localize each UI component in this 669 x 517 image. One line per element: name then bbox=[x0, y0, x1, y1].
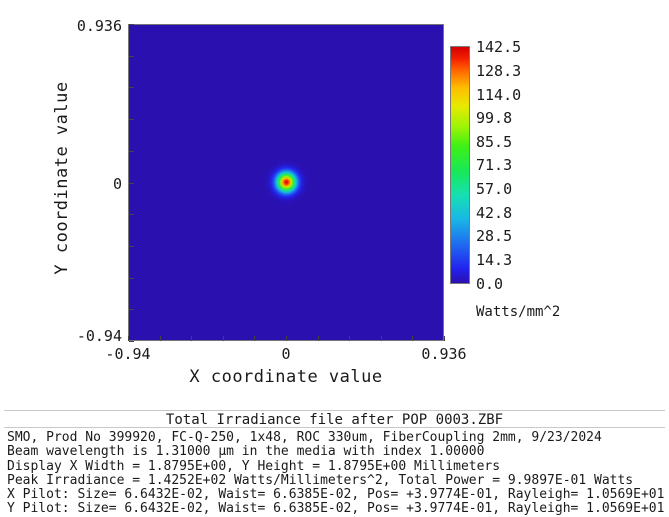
x-axis-tick bbox=[254, 336, 255, 341]
info-line-display: Display X Width = 1.8795E+00, Y Height =… bbox=[7, 460, 667, 474]
x-axis-title: X coordinate value bbox=[128, 367, 444, 387]
colorbar-label-9: 128.3 bbox=[476, 64, 521, 79]
y-axis-tick bbox=[129, 119, 134, 120]
colorbar-label-4: 57.0 bbox=[476, 182, 512, 197]
colorbar-label-10: 142.5 bbox=[476, 40, 521, 55]
x-tick-label-max: 0.936 bbox=[384, 345, 504, 363]
divider-middle bbox=[4, 427, 665, 428]
y-tick-label-min: -0.94 bbox=[0, 327, 122, 345]
colorbar-label-7: 99.8 bbox=[476, 111, 512, 126]
colorbar-gradient bbox=[450, 46, 470, 284]
info-line-x-pilot: X Pilot: Size= 6.6432E-02, Waist= 6.6385… bbox=[7, 488, 667, 502]
colorbar-label-6: 85.5 bbox=[476, 135, 512, 150]
y-tick-label-max: 0.936 bbox=[0, 17, 122, 35]
y-axis-tick bbox=[129, 24, 134, 25]
info-line-y-pilot: Y Pilot: Size= 6.6432E-02, Waist= 6.6385… bbox=[7, 502, 667, 516]
y-axis-tick bbox=[129, 278, 134, 279]
colorbar-label-3: 42.8 bbox=[476, 206, 512, 221]
x-axis-tick bbox=[191, 336, 192, 341]
irradiance-plot: Y coordinate value X coordinate value 0.… bbox=[0, 0, 669, 405]
y-axis-tick bbox=[129, 246, 134, 247]
x-axis-tick bbox=[318, 336, 319, 341]
colorbar-label-2: 28.5 bbox=[476, 229, 512, 244]
x-axis-tick bbox=[160, 336, 161, 341]
colorbar-label-0: 0.0 bbox=[476, 277, 503, 292]
y-axis-tick bbox=[129, 214, 134, 215]
x-axis-tick bbox=[349, 336, 350, 341]
colorbar-label-5: 71.3 bbox=[476, 158, 512, 173]
x-axis-tick bbox=[444, 336, 445, 341]
x-axis-tick bbox=[412, 336, 413, 341]
info-line-wavelength: Beam wavelength is 1.31000 µm in the med… bbox=[7, 445, 667, 459]
y-axis-tick bbox=[129, 341, 134, 342]
info-line-system: SMO, Prod No 399920, FC-Q-250, 1x48, ROC… bbox=[7, 431, 667, 445]
x-tick-label-min: -0.94 bbox=[68, 345, 188, 363]
info-panel: Total Irradiance file after POP_0003.ZBF… bbox=[0, 406, 669, 513]
y-axis-tick bbox=[129, 309, 134, 310]
info-line-irradiance: Peak Irradiance = 1.4252E+02 Watts/Milli… bbox=[7, 474, 667, 488]
colorbar-units-label: Watts/mm^2 bbox=[476, 304, 560, 320]
x-axis-tick bbox=[286, 336, 287, 341]
x-axis-tick bbox=[223, 336, 224, 341]
info-text-block: SMO, Prod No 399920, FC-Q-250, 1x48, ROC… bbox=[7, 431, 667, 517]
y-axis-tick bbox=[129, 151, 134, 152]
heatmap-image[interactable] bbox=[128, 24, 444, 341]
colorbar-label-8: 114.0 bbox=[476, 88, 521, 103]
x-axis-tick bbox=[381, 336, 382, 341]
caption-title: Total Irradiance file after POP_0003.ZBF bbox=[0, 412, 669, 428]
heatmap-canvas bbox=[129, 25, 443, 340]
y-axis-tick bbox=[129, 87, 134, 88]
divider-top bbox=[4, 410, 665, 411]
colorbar-label-1: 14.3 bbox=[476, 253, 512, 268]
y-axis-tick bbox=[129, 56, 134, 57]
y-tick-label-mid: 0 bbox=[0, 175, 122, 193]
x-tick-label-mid: 0 bbox=[226, 345, 346, 363]
y-axis-tick bbox=[129, 183, 134, 184]
